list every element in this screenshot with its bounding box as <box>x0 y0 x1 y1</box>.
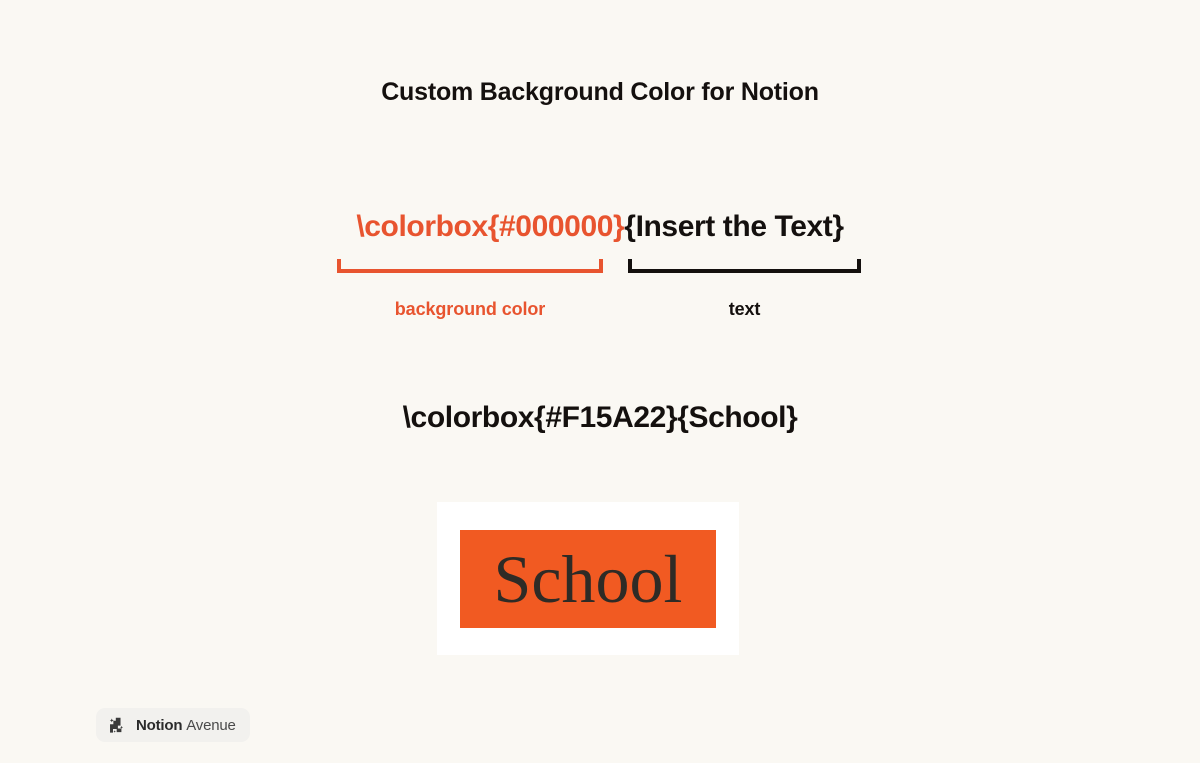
brand-name-light: Avenue <box>186 717 235 734</box>
slide-canvas: Custom Background Color for Notion \colo… <box>0 0 1200 763</box>
page-title: Custom Background Color for Notion <box>0 78 1200 107</box>
text-label: text <box>628 299 861 320</box>
preview-word: School <box>494 545 683 613</box>
syntax-text-token: {Insert the Text} <box>624 210 843 243</box>
notion-avenue-logo-icon <box>106 715 127 736</box>
example-code-line: \colorbox{#F15A22}{School} <box>0 401 1200 435</box>
preview-color-swatch: School <box>460 530 716 628</box>
syntax-line: \colorbox{#000000}{Insert the Text} <box>0 210 1200 244</box>
text-bracket-icon <box>628 259 861 273</box>
brand-badge[interactable]: Notion Avenue <box>96 708 250 742</box>
preview-card: School <box>437 502 739 655</box>
brand-name-bold: Notion <box>136 717 182 734</box>
background-color-label: background color <box>337 299 603 320</box>
brand-name: Notion Avenue <box>136 717 236 734</box>
background-color-bracket-icon <box>337 259 603 273</box>
syntax-background-token: \colorbox{#000000} <box>356 210 624 243</box>
